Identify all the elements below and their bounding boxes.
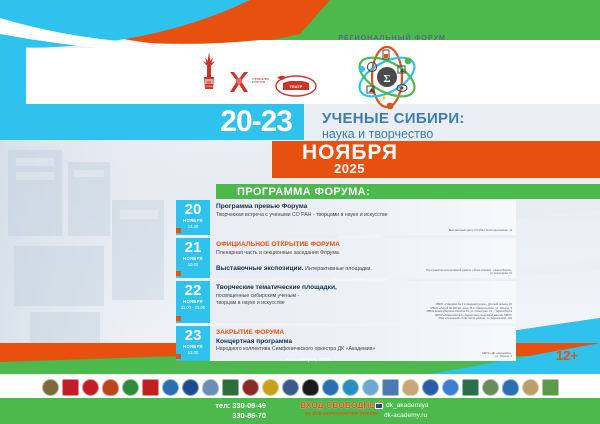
schedule-row: 20НОЯБРЯ14.30Программа превью ФорумаТвор… bbox=[176, 200, 516, 235]
sponsor-logo-icon bbox=[262, 379, 279, 396]
sponsor-logo-icon bbox=[482, 379, 499, 396]
sponsor-logo-icon bbox=[202, 379, 219, 396]
age-rating-badge: 12+ bbox=[556, 348, 578, 363]
theatre-logo: ТЕАТР bbox=[275, 72, 317, 96]
page-title: УЧЕНЫЕ СИБИРИ: наука и творчество bbox=[322, 110, 482, 142]
sponsor-logo-icon bbox=[382, 379, 399, 396]
mail-icon bbox=[375, 403, 383, 409]
sponsor-logo-icon bbox=[402, 379, 419, 396]
sponsor-logo-icon bbox=[162, 379, 179, 396]
schedule-row: 21НОЯБРЯ10.00ОФИЦИАЛЬНОЕ ОТКРЫТИЕ ФОРУМА… bbox=[176, 238, 516, 278]
sponsor-logo-icon bbox=[182, 379, 199, 396]
svg-text:ТЕАТР: ТЕАТР bbox=[290, 84, 303, 89]
entry-title: Творческие тематические площадки, bbox=[216, 284, 512, 293]
day-number: 20 bbox=[176, 202, 210, 218]
monument-logo: 80 ПОБЕДЫ bbox=[196, 51, 222, 96]
schedule-entry: ОФИЦИАЛЬНОЕ ОТКРЫТИЕ ФОРУМАПленарная час… bbox=[210, 238, 516, 278]
svg-text:♪: ♪ bbox=[371, 65, 373, 70]
schedule-day-badge: 20НОЯБРЯ14.30 bbox=[176, 200, 210, 235]
sponsor-logo-icon bbox=[502, 379, 519, 396]
schedule-row: 23НОЯБРЯ12.00ЗАКРЫТИЕ ФОРУМАКонцертная п… bbox=[176, 326, 516, 361]
entry-subtitle: Народного коллектива Симфонического орке… bbox=[216, 346, 512, 353]
day-corner-marker bbox=[176, 354, 181, 359]
phone-numbers: тел: 330-09-49 330-86-70 bbox=[182, 401, 266, 420]
sponsor-logo-icon bbox=[462, 379, 479, 396]
culture-department-logo: УПРАВЛЕНИЕ КУЛЬТУРЫ bbox=[228, 68, 269, 96]
entry-subtitle: Творческая встреча с учеными СО РАН - тв… bbox=[216, 212, 512, 219]
sponsor-logo-icon bbox=[322, 379, 339, 396]
day-time: 11.00 - 15.00 bbox=[176, 305, 210, 311]
schedule-day-badge: 21НОЯБРЯ10.00 bbox=[176, 238, 210, 278]
entry-venue: МБОУ «Гимназия № 3 в Академгородке», Дет… bbox=[427, 303, 512, 321]
day-corner-marker bbox=[176, 228, 181, 233]
schedule-entry: ЗАКРЫТИЕ ФОРУМАКонцертная программаНарод… bbox=[210, 326, 516, 361]
entry-subtitle: Пленарная часть и секционные заседания Ф… bbox=[216, 250, 512, 257]
partner-logos: 80 ПОБЕДЫ УПРАВЛЕНИЕ КУЛЬТУРЫ ТЕАТР bbox=[196, 48, 316, 96]
social-handle-row[interactable]: dk_akademiya bbox=[375, 401, 525, 411]
day-number: 21 bbox=[176, 240, 210, 256]
sponsor-logo-icon bbox=[102, 379, 119, 396]
sponsor-logo-icon bbox=[222, 379, 239, 396]
month-bar: НОЯБРЯ 2025 bbox=[272, 141, 600, 178]
svg-text:Σ: Σ bbox=[383, 73, 390, 85]
regional-forum-label: РЕГИОНАЛЬНЫЙ ФОРУМ bbox=[322, 33, 462, 42]
svg-text:⚡: ⚡ bbox=[380, 94, 387, 102]
schedule-day-badge: 23НОЯБРЯ12.00 bbox=[176, 326, 210, 361]
city-year-text: г. Новосибирск, 2025 bbox=[250, 357, 360, 362]
sponsor-logo-icon bbox=[282, 379, 299, 396]
entry-venue: Пространство коллективной работы «Точка … bbox=[426, 269, 512, 276]
atom-emblem-icon: Σ ♪ ⚡ bbox=[352, 44, 422, 110]
sponsor-logo-icon bbox=[42, 379, 59, 396]
entry-title: ЗАКРЫТИЕ ФОРУМА bbox=[216, 329, 512, 338]
day-time: 12.00 bbox=[176, 350, 210, 356]
program-header-bar: ПРОГРАММА ФОРУМА: bbox=[216, 184, 600, 199]
sponsor-logo-icon bbox=[302, 379, 319, 396]
entry-bold-line: Концертная программа bbox=[216, 338, 512, 347]
entry-venue: Выставочный центр СО РАН, Золотодолинска… bbox=[449, 229, 512, 233]
date-range-text: 20-23 bbox=[220, 105, 292, 139]
contact-info[interactable]: dk_akademiya dk-academy.ru bbox=[375, 401, 525, 420]
sponsor-logo-icon bbox=[422, 379, 439, 396]
day-number: 22 bbox=[176, 283, 210, 299]
svg-text:80: 80 bbox=[207, 80, 211, 84]
social-handle-text[interactable]: dk_akademiya bbox=[386, 401, 429, 411]
sponsor-logo-icon bbox=[242, 379, 259, 396]
year-text: 2025 bbox=[334, 162, 365, 176]
sponsor-logo-icon bbox=[442, 379, 459, 396]
day-corner-marker bbox=[176, 316, 181, 321]
schedule-row: 22НОЯБРЯ11.00 - 15.00Творческие тематиче… bbox=[176, 281, 516, 323]
sponsor-logo-icon bbox=[122, 379, 139, 396]
phone-line-2: 330-86-70 bbox=[182, 411, 266, 421]
day-time: 14.30 bbox=[176, 224, 210, 230]
date-range-bar: 20-23 bbox=[0, 104, 304, 140]
svg-text:ПОБЕДЫ: ПОБЕДЫ bbox=[205, 86, 214, 88]
forum-poster: 80 ПОБЕДЫ УПРАВЛЕНИЕ КУЛЬТУРЫ ТЕАТР bbox=[0, 0, 600, 424]
sponsor-logo-strip bbox=[0, 375, 600, 398]
program-header-text: ПРОГРАММА ФОРУМА: bbox=[237, 185, 370, 199]
schedule-list: 20НОЯБРЯ14.30Программа превью ФорумаТвор… bbox=[176, 200, 516, 364]
entry-title: Программа превью Форума bbox=[216, 203, 512, 212]
sponsor-logo-icon bbox=[362, 379, 379, 396]
schedule-entry: Программа превью ФорумаТворческая встреч… bbox=[210, 200, 516, 235]
sponsor-logo-icon bbox=[142, 379, 159, 396]
sponsor-logo-icon bbox=[82, 379, 99, 396]
forum-title-line1: УЧЕНЫЕ СИБИРИ: bbox=[322, 110, 482, 127]
day-number: 23 bbox=[176, 328, 210, 344]
entry-venue: МБУК «ДК «Академия»,ул. Ильича, 4 bbox=[482, 352, 512, 359]
day-corner-marker bbox=[176, 271, 181, 276]
forum-title-line2: наука и творчество bbox=[322, 127, 482, 142]
sponsor-logo-icon bbox=[62, 379, 79, 396]
website-text[interactable]: dk-academy.ru bbox=[375, 411, 525, 421]
sponsor-logo-icon bbox=[342, 379, 359, 396]
sponsor-logo-icon bbox=[542, 379, 559, 396]
entry-title: ОФИЦИАЛЬНОЕ ОТКРЫТИЕ ФОРУМА bbox=[216, 241, 512, 250]
phone-line-1: тел: 330-09-49 bbox=[182, 401, 266, 411]
sponsor-logo-icon bbox=[522, 379, 539, 396]
schedule-day-badge: 22НОЯБРЯ11.00 - 15.00 bbox=[176, 281, 210, 323]
schedule-entry: Творческие тематические площадки,посвяще… bbox=[210, 281, 516, 323]
day-time: 10.00 bbox=[176, 262, 210, 268]
culture-logo-text: УПРАВЛЕНИЕ КУЛЬТУРЫ bbox=[252, 79, 269, 85]
